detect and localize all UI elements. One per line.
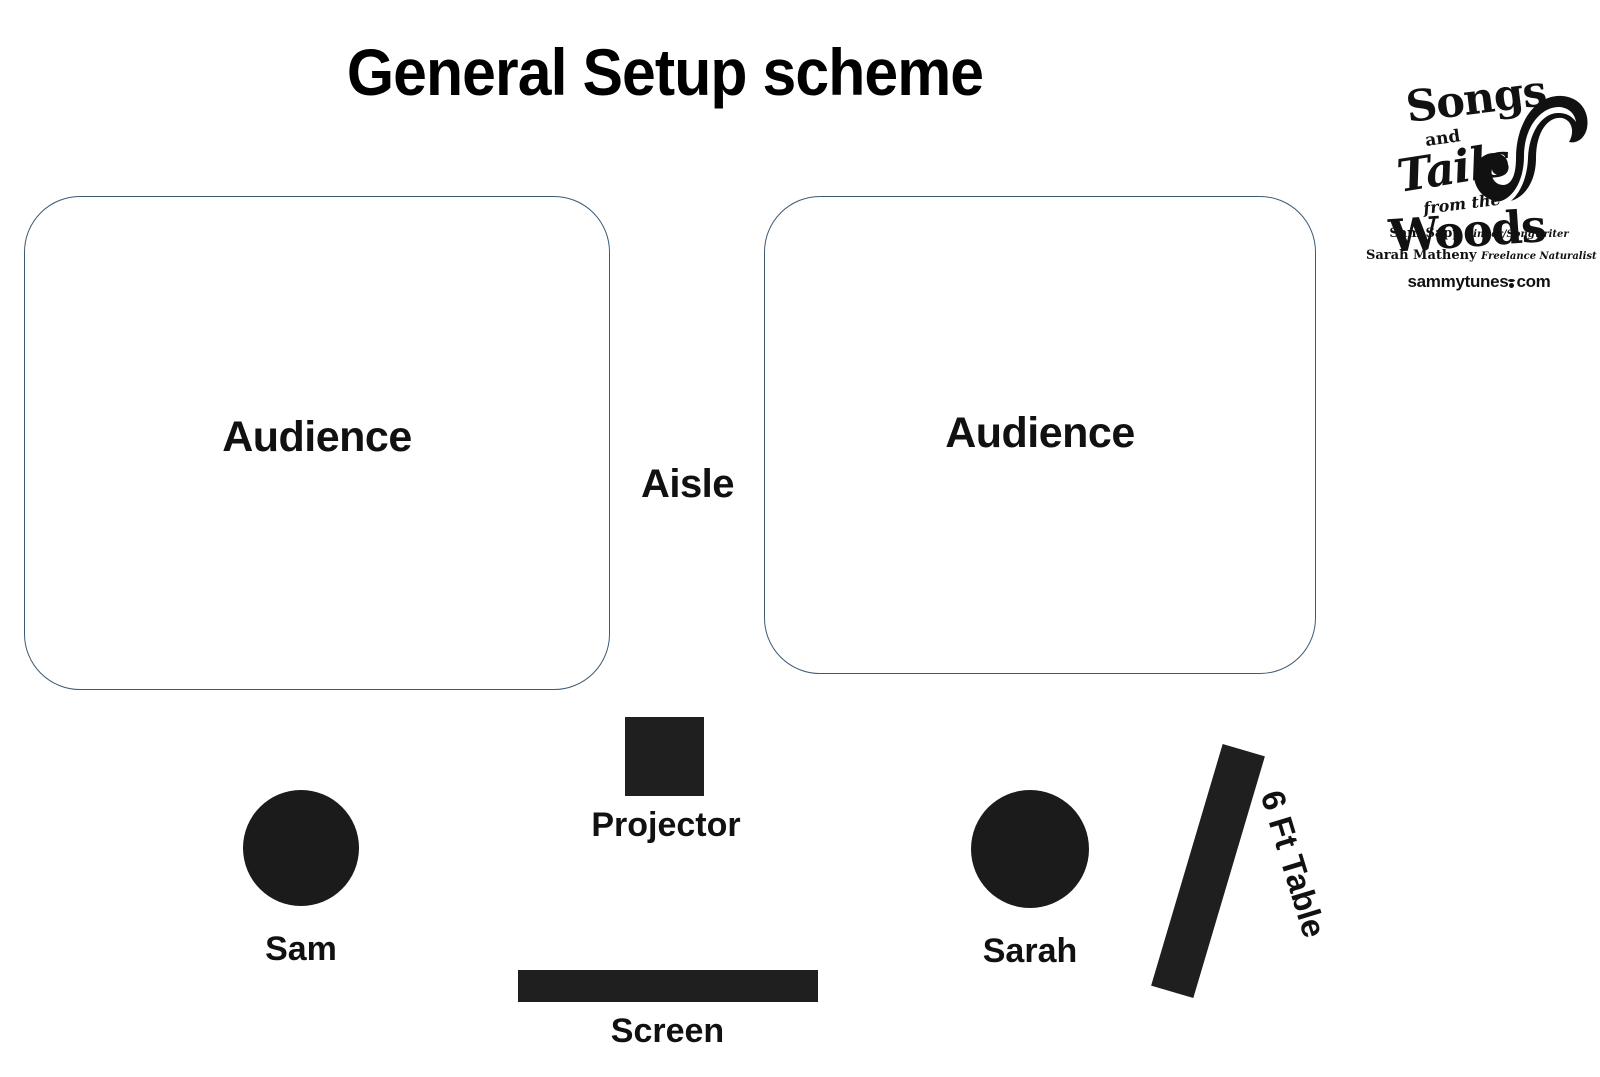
logo-credit-sam-role: Singer/Songwriter — [1466, 229, 1569, 240]
aisle-label: Aisle — [610, 462, 765, 507]
logo-website-tld: com — [1516, 272, 1550, 291]
projector-shape — [625, 717, 704, 796]
projector-label: Projector — [556, 806, 776, 845]
logo-credit-sam-name: Sam Sapp — [1389, 226, 1461, 241]
audience-zone-right: Audience — [764, 196, 1316, 674]
screen-label: Screen — [560, 1012, 775, 1051]
brand-logo: Songs and Tails from the Woods Sam Sapp … — [1366, 44, 1592, 296]
paw-dot-icon — [1508, 275, 1516, 289]
logo-credit-sarah: Sarah Matheny Freelance Naturalist — [1366, 248, 1592, 263]
logo-credit-sarah-name: Sarah Matheny — [1366, 248, 1477, 263]
performer-marker-sarah — [971, 790, 1089, 908]
logo-credit-sarah-role: Freelance Naturalist — [1481, 251, 1597, 262]
performer-marker-sam — [243, 790, 359, 906]
logo-credit-sam: Sam Sapp Singer/Songwriter — [1366, 226, 1592, 241]
audience-zone-left: Audience — [24, 196, 610, 690]
performer-label-sam: Sam — [221, 930, 381, 969]
page-title: General Setup scheme — [53, 38, 1277, 107]
logo-website-domain: sammytunes — [1408, 272, 1509, 291]
screen-shape — [518, 970, 818, 1002]
audience-zone-left-label: Audience — [25, 413, 609, 462]
audience-zone-right-label: Audience — [765, 409, 1315, 458]
performer-label-sarah: Sarah — [950, 932, 1110, 971]
setup-diagram-canvas: General Setup scheme Audience Audience A… — [0, 0, 1600, 1077]
logo-website: sammytunescom — [1366, 272, 1592, 292]
table-label: 6 Ft Table — [1241, 748, 1345, 979]
